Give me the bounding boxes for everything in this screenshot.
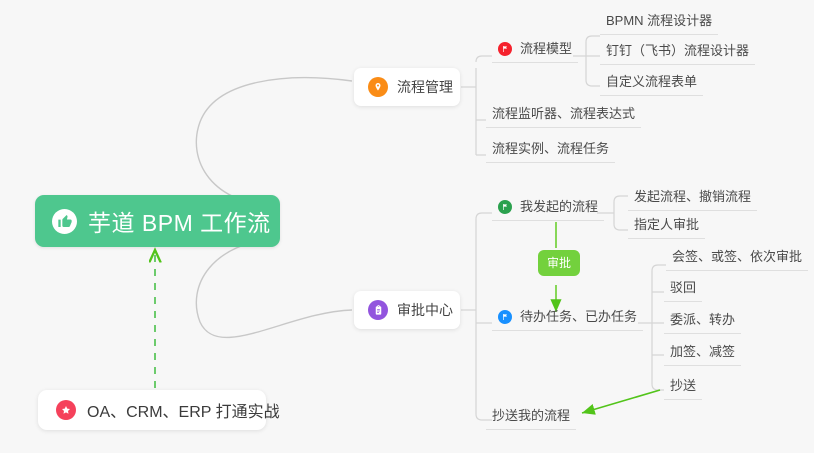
- branch-process-management-label: 流程管理: [397, 77, 453, 97]
- approval-flow-badge: 审批: [538, 250, 580, 276]
- leaf-dingtalk-feishu-designer[interactable]: 钉钉（飞书）流程设计器: [600, 42, 755, 65]
- thumbs-up-icon: [52, 209, 77, 234]
- node-oa-crm-erp-integration[interactable]: OA、CRM、ERP 打通实战: [38, 390, 266, 430]
- node-cc-to-me-processes[interactable]: 抄送我的流程: [486, 407, 576, 430]
- root-node[interactable]: 芋道 BPM 工作流: [35, 195, 280, 247]
- node-my-initiated-processes-label: 我发起的流程: [520, 198, 598, 215]
- flag-icon: [498, 42, 512, 56]
- node-oa-crm-erp-integration-label: OA、CRM、ERP 打通实战: [87, 398, 280, 422]
- leaf-reject[interactable]: 驳回: [664, 279, 702, 302]
- branch-process-management[interactable]: 流程管理: [354, 68, 460, 106]
- node-process-model[interactable]: 流程模型: [492, 40, 578, 63]
- leaf-delegate-transfer[interactable]: 委派、转办: [664, 311, 741, 334]
- leaf-process-listener-expression[interactable]: 流程监听器、流程表达式: [486, 105, 641, 128]
- mindmap-canvas: 芋道 BPM 工作流 流程管理 审批中心 流程模型 BPMN 流程设计器 钉钉: [0, 0, 814, 453]
- node-process-model-label: 流程模型: [520, 40, 572, 57]
- node-todo-done-tasks-label: 待办任务、已办任务: [520, 308, 637, 325]
- node-todo-done-tasks[interactable]: 待办任务、已办任务: [492, 308, 643, 331]
- leaf-countersign-orsign-sequential[interactable]: 会签、或签、依次审批: [666, 248, 808, 271]
- leaf-start-cancel-process[interactable]: 发起流程、撤销流程: [628, 188, 757, 211]
- leaf-process-instance-task[interactable]: 流程实例、流程任务: [486, 140, 615, 163]
- leaf-custom-process-form[interactable]: 自定义流程表单: [600, 73, 703, 96]
- leaf-assigned-approver[interactable]: 指定人审批: [628, 216, 705, 239]
- clipboard-icon: [368, 300, 388, 320]
- leaf-bpmn-designer[interactable]: BPMN 流程设计器: [600, 12, 718, 35]
- branch-approval-center[interactable]: 审批中心: [354, 291, 460, 329]
- flag-icon: [498, 310, 512, 324]
- leaf-carbon-copy[interactable]: 抄送: [664, 377, 702, 400]
- branch-approval-center-label: 审批中心: [397, 300, 453, 320]
- location-pin-icon: [368, 77, 388, 97]
- flag-icon: [498, 200, 512, 214]
- leaf-add-remove-signer[interactable]: 加签、减签: [664, 343, 741, 366]
- root-label: 芋道 BPM 工作流: [88, 204, 271, 238]
- node-my-initiated-processes[interactable]: 我发起的流程: [492, 198, 604, 221]
- star-icon: [56, 400, 76, 420]
